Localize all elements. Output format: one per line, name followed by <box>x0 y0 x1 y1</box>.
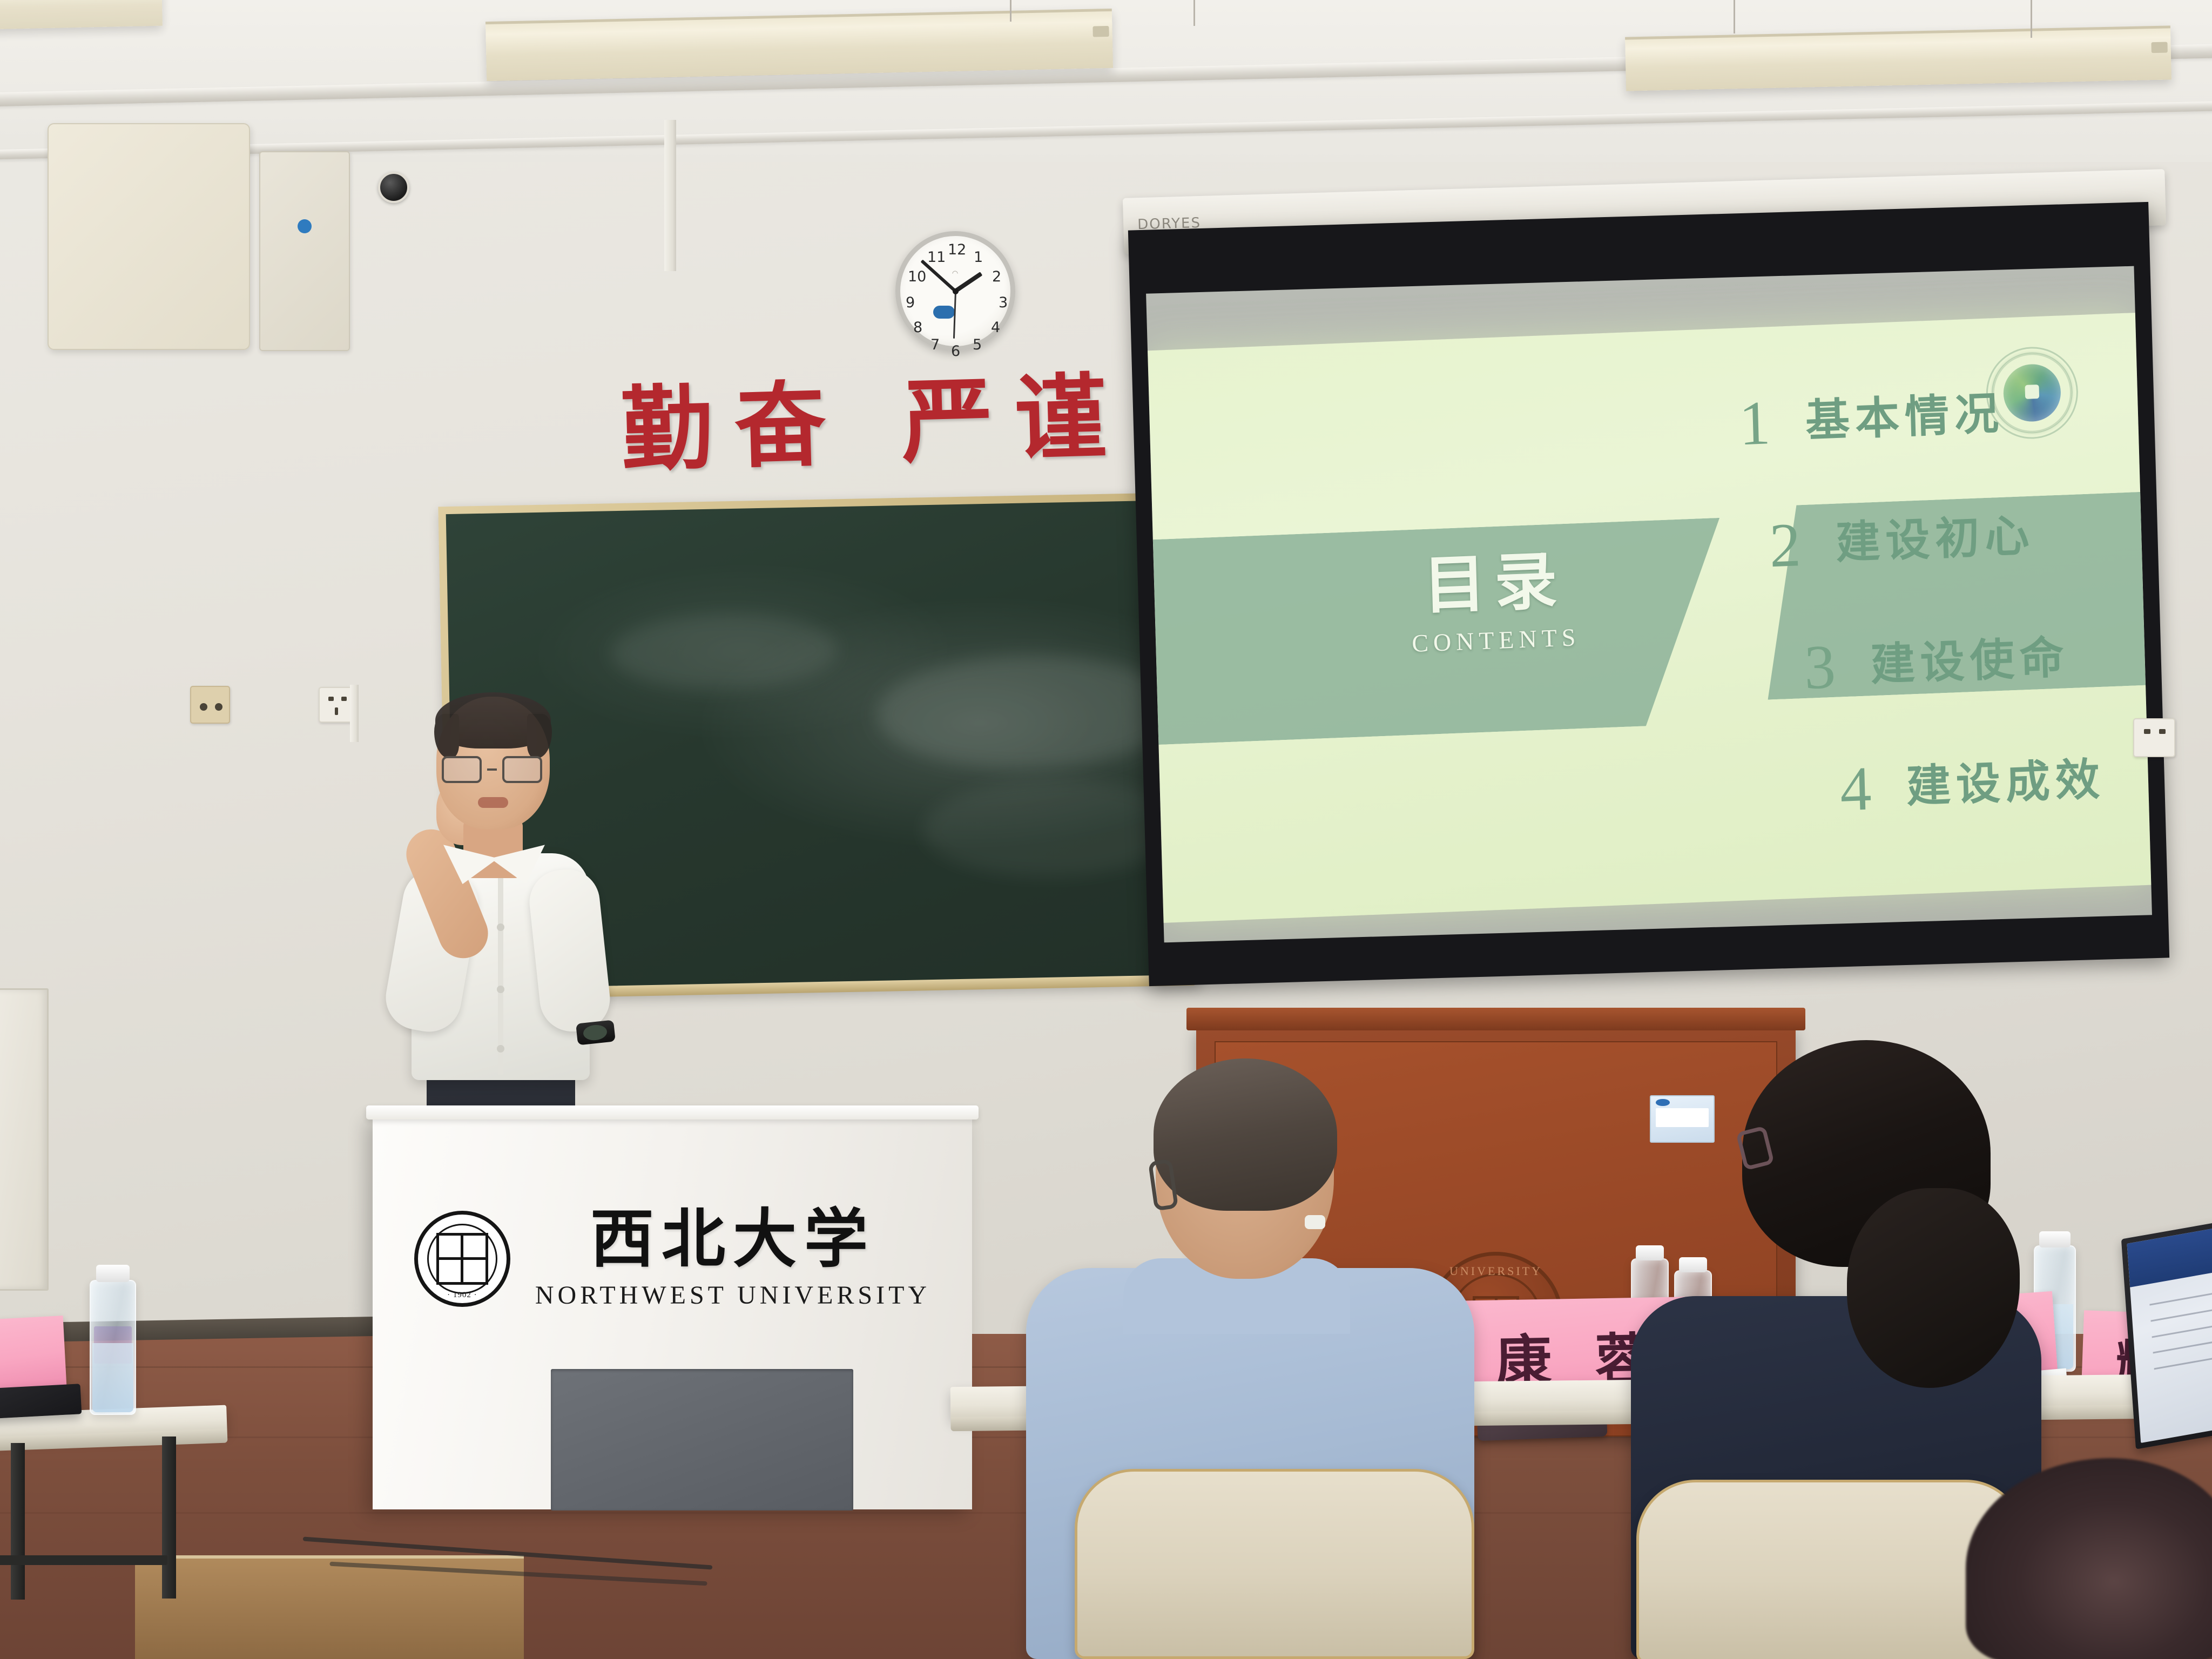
seal-year-text: · 1902 · <box>418 1291 507 1300</box>
university-seal-icon: · 1902 · <box>414 1211 510 1307</box>
clock-brand-icon: ◠ <box>952 269 959 278</box>
slide-toc-list: 1 基本情况 2 建设初心 3 建设使命 4 建设成效 <box>1732 363 2152 885</box>
slide-toc-item: 2 建设初心 <box>1763 486 2151 578</box>
podium-top-surface <box>366 1105 979 1120</box>
projection-screen-surface: 目录 CONTENTS 1 基本情况 2 建设初心 3 建设使命 <box>1146 266 2152 943</box>
podium-equipment-panel[interactable] <box>551 1369 853 1510</box>
audience-foreground-hair <box>1966 1458 2212 1659</box>
ceiling-speaker-icon <box>378 172 409 203</box>
clock-numeral: 7 <box>930 336 940 353</box>
wall-motto: 勤奋 严谨 <box>620 371 1130 477</box>
clock-numeral: 4 <box>991 319 1000 336</box>
speaker-eyeglasses <box>442 756 542 783</box>
desk-under-shelf <box>0 1555 167 1565</box>
slide-toc-item: 3 建设使命 <box>1797 609 2151 699</box>
clock-numeral: 12 <box>948 241 966 258</box>
slide-toc-item: 4 建设成效 <box>1833 732 2152 821</box>
wall-control-panel[interactable] <box>259 151 350 351</box>
wall-socket-white[interactable] <box>319 687 354 723</box>
wall-clock: ◠ 12 1 2 3 4 5 6 7 8 9 10 11 <box>895 231 1015 351</box>
placard-left-front <box>0 1316 66 1390</box>
wall-ac-unit <box>48 123 250 350</box>
clock-hub <box>953 288 959 294</box>
slide-toc-number: 3 <box>1797 635 1842 699</box>
clock-numeral: 2 <box>992 268 1001 285</box>
slide-toc-label: 建设初心 <box>1835 514 2035 566</box>
clock-sticker <box>933 306 955 319</box>
laptop-screen <box>2127 1217 2212 1443</box>
ceiling-lamp-2 <box>1625 25 2171 91</box>
desk-leg <box>162 1437 176 1599</box>
clock-numeral: 6 <box>951 343 960 360</box>
podium-name-en: NORTHWEST UNIVERSITY <box>535 1280 930 1310</box>
slide-toc-label: 基本情况 <box>1805 392 2005 444</box>
wall-socket-far-right[interactable] <box>2133 718 2175 757</box>
lamp-wire-3 <box>1734 0 1735 33</box>
clock-numeral: 8 <box>913 319 922 336</box>
water-bottle[interactable] <box>90 1280 136 1415</box>
podium-branding: · 1902 · 西北大学 NORTHWEST UNIVERSITY <box>373 1207 972 1310</box>
side-door[interactable] <box>0 988 49 1291</box>
lamp-wire-1 <box>1193 0 1195 26</box>
slide-heading-cn: 目录 <box>1316 545 1674 622</box>
clock-numeral: 11 <box>927 249 946 266</box>
chair-back[interactable] <box>1075 1469 1474 1659</box>
speaker-shirt-button <box>497 923 504 931</box>
ceiling-lamp-3 <box>0 0 163 30</box>
lamp-wire-4 <box>2031 0 2032 38</box>
clock-numeral: 9 <box>906 294 915 311</box>
speaker-podium: · 1902 · 西北大学 NORTHWEST UNIVERSITY <box>373 1115 972 1509</box>
clock-numeral: 3 <box>999 294 1008 311</box>
speaker-shirt-button <box>497 1045 504 1053</box>
podium-name-cn: 西北大学 <box>590 1207 875 1271</box>
desk-leg <box>11 1443 25 1600</box>
lamp-wire-2 <box>1010 0 1011 22</box>
panel-indicator-icon <box>298 219 312 233</box>
slide-toc-label: 建设成效 <box>1906 758 2106 810</box>
slide-toc-number: 2 <box>1763 514 1808 578</box>
slide-toc-item: 1 基本情况 <box>1732 363 2152 456</box>
wall-socket-beige[interactable] <box>190 686 230 724</box>
wall-conduit <box>664 120 676 271</box>
classroom-scene: 勤奋 严谨 ◠ 12 1 2 3 4 5 6 7 8 9 10 11 DORYE… <box>0 0 2212 1659</box>
slide-heading: 目录 CONTENTS <box>1316 545 1675 661</box>
clock-numeral: 5 <box>973 336 982 353</box>
lamp-end-cap <box>2151 42 2167 53</box>
seal-glyph-icon <box>436 1233 488 1285</box>
speaker-mouth <box>478 797 508 808</box>
bottle-cap <box>96 1265 130 1282</box>
clock-numeral: 10 <box>908 268 926 285</box>
speaker-shirt-button <box>497 986 504 993</box>
speaker-wristwatch <box>576 1020 616 1045</box>
speaker-hair <box>435 692 551 748</box>
audience-man-hair <box>1154 1058 1337 1211</box>
slide-toc-label: 建设使命 <box>1870 636 2070 687</box>
slide-toc-number: 1 <box>1732 392 1777 456</box>
clock-numeral: 1 <box>974 249 983 266</box>
lamp-end-cap <box>1092 26 1109 37</box>
bottle-water <box>92 1343 133 1412</box>
wall-conduit-lower <box>350 685 359 742</box>
slide-toc-number: 4 <box>1833 757 1878 821</box>
projected-slide: 目录 CONTENTS 1 基本情况 2 建设初心 3 建设使命 <box>1148 313 2151 923</box>
audience-man-collar-tag <box>1305 1215 1325 1229</box>
audience-foreground <box>1966 1458 2212 1659</box>
laptop-right[interactable] <box>2121 1211 2212 1449</box>
projection-screen[interactable]: 目录 CONTENTS 1 基本情况 2 建设初心 3 建设使命 <box>1128 202 2169 986</box>
